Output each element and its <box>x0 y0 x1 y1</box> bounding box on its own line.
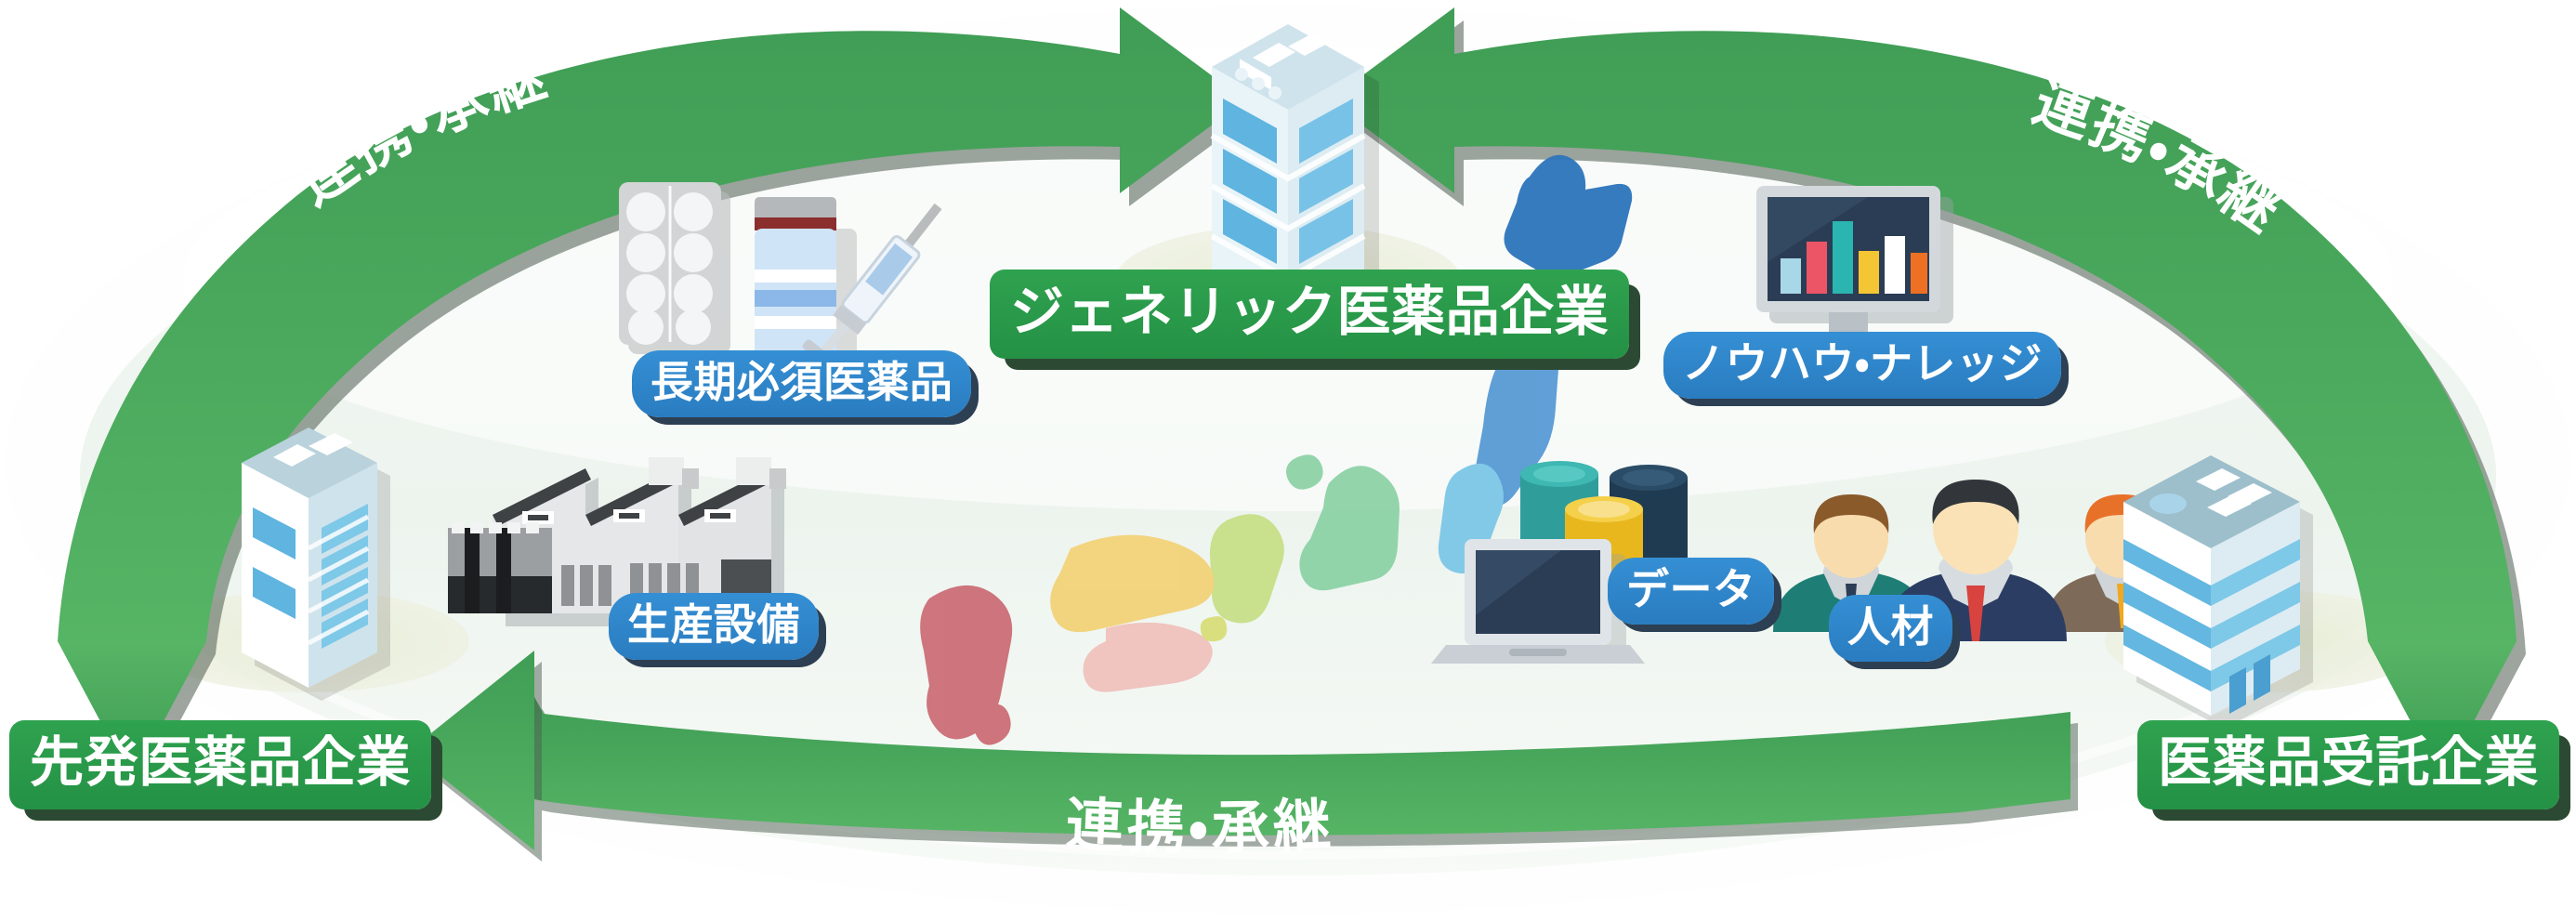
badge-generic-label: ジェネリック医薬品企業 <box>1010 285 1609 339</box>
badge-data-label: データ <box>1626 568 1755 611</box>
arrow-label-bottom: 連携・承継 <box>1065 793 1336 861</box>
badge-generic[interactable]: ジェネリック医薬品企業 <box>990 270 1629 359</box>
diagram-canvas: 連携・承継 連携・承継 連携・承継 先発医薬品企業 ジェネリック医薬品企業 医薬… <box>0 0 2576 921</box>
badge-data[interactable]: データ <box>1608 558 1774 625</box>
badge-originator[interactable]: 先発医薬品企業 <box>9 720 431 809</box>
badge-originator-label: 先発医薬品企業 <box>30 736 411 790</box>
badge-knowhow-knowledge[interactable]: ノウハウ・ナレッジ <box>1663 332 2061 399</box>
badge-long-term-essential-drugs[interactable]: 長期必須医薬品 <box>632 350 971 417</box>
building-contract <box>2123 455 2313 729</box>
badge-contract[interactable]: 医薬品受託企業 <box>2137 720 2559 809</box>
badge-long-term-essential-drugs-label: 長期必須医薬品 <box>651 361 953 403</box>
monitor-bar-chart-icon <box>1756 186 1953 346</box>
map-region-awaji <box>1201 616 1228 641</box>
badge-human-resources-label: 人材 <box>1847 605 1934 648</box>
building-originator <box>242 428 390 701</box>
badge-production-facilities-label: 生産設備 <box>627 603 800 646</box>
badge-contract-label: 医薬品受託企業 <box>2158 736 2539 790</box>
badge-knowhow-knowledge-label: ノウハウ・ナレッジ <box>1682 342 2043 385</box>
badge-production-facilities[interactable]: 生産設備 <box>609 593 819 660</box>
badge-human-resources[interactable]: 人材 <box>1829 595 1952 662</box>
